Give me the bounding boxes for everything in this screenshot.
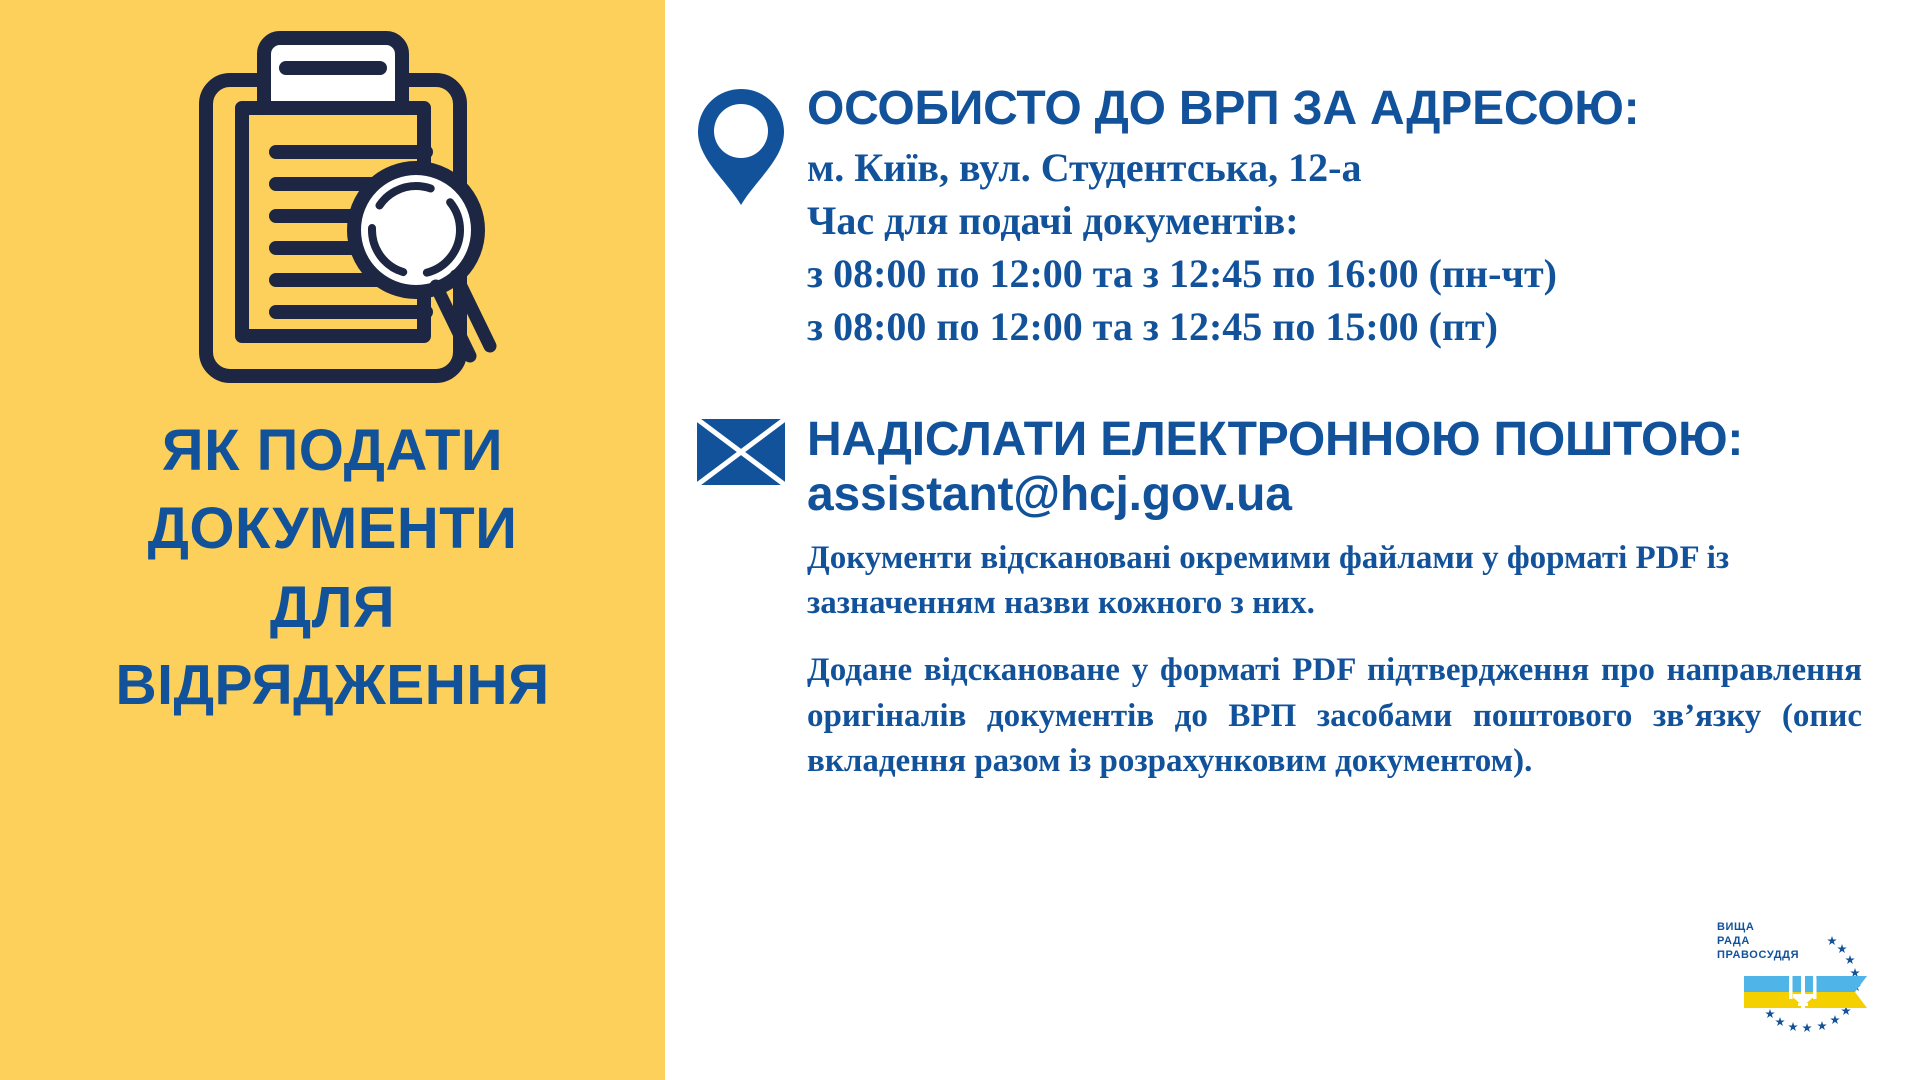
- logo-word-2: РАДА: [1717, 934, 1799, 948]
- hours-friday: з 08:00 по 12:00 та з 12:45 по 15:00 (пт…: [807, 301, 1880, 354]
- hours-mon-thu: з 08:00 по 12:00 та з 12:45 по 16:00 (пн…: [807, 248, 1880, 301]
- left-panel-title: ЯК ПОДАТИ ДОКУМЕНТИ ДЛЯ ВІДРЯДЖЕННЯ: [33, 412, 633, 724]
- title-line-2: ДОКУМЕНТИ: [33, 490, 633, 568]
- email-heading: НАДІСЛАТИ ЕЛЕКТРОННОЮ ПОШТОЮ: assistant@…: [807, 413, 1857, 521]
- in-person-heading: ОСОБИСТО ДО ВРП ЗА АДРЕСОЮ:: [807, 82, 1880, 136]
- submission-hours-label: Час для подачі документів:: [807, 195, 1880, 248]
- email-note-paragraph-1: Документи відскановані окремими файлами …: [807, 536, 1862, 626]
- logo-wordmark: ВИЩА РАДА ПРАВОСУДДЯ: [1717, 920, 1799, 962]
- title-line-4: ВІДРЯДЖЕННЯ: [33, 647, 633, 724]
- section-in-person: ОСОБИСТО ДО ВРП ЗА АДРЕСОЮ: м. Київ, вул…: [685, 82, 1880, 353]
- clipboard-magnifier-icon: [168, 20, 498, 390]
- address-line: м. Київ, вул. Студентська, 12-а: [807, 142, 1880, 195]
- vrp-logo: ВИЩА РАДА ПРАВОСУДДЯ: [1695, 908, 1885, 1058]
- email-note-paragraph-2: Додане відскановане у форматі PDF підтве…: [807, 648, 1862, 784]
- envelope-icon: [695, 417, 787, 487]
- title-line-3: ДЛЯ: [33, 569, 633, 647]
- logo-word-3: ПРАВОСУДДЯ: [1717, 948, 1799, 962]
- section-email: НАДІСЛАТИ ЕЛЕКТРОННОЮ ПОШТОЮ: assistant@…: [685, 413, 1880, 783]
- section-text-column: ОСОБИСТО ДО ВРП ЗА АДРЕСОЮ: м. Київ, вул…: [807, 82, 1880, 353]
- section-icon-wrapper: [685, 82, 807, 208]
- logo-word-1: ВИЩА: [1717, 920, 1799, 934]
- infographic-poster: ЯК ПОДАТИ ДОКУМЕНТИ ДЛЯ ВІДРЯДЖЕННЯ ОСОБ…: [0, 0, 1920, 1080]
- map-pin-icon: [695, 86, 787, 208]
- title-line-1: ЯК ПОДАТИ: [33, 412, 633, 490]
- left-yellow-panel: ЯК ПОДАТИ ДОКУМЕНТИ ДЛЯ ВІДРЯДЖЕННЯ: [0, 0, 665, 1080]
- section-text-column: НАДІСЛАТИ ЕЛЕКТРОННОЮ ПОШТОЮ: assistant@…: [807, 413, 1880, 783]
- section-icon-wrapper: [685, 413, 807, 487]
